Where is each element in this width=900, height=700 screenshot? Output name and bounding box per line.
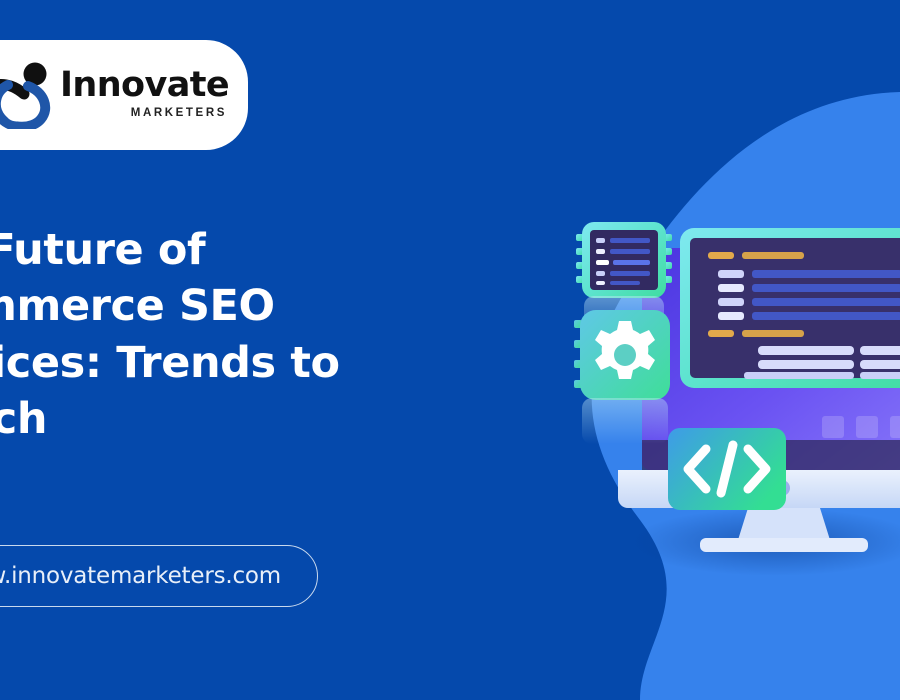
website-url-pill[interactable]: w.innovatemarketers.com: [0, 545, 318, 607]
page-title: e Future of ommerce SEO rvices: Trends t…: [0, 222, 503, 447]
code-tag-icon: [668, 428, 786, 510]
banner-canvas: Innovate MARKETERS e Future of ommerce S…: [0, 0, 900, 700]
gear-icon: [574, 310, 670, 400]
logo-card[interactable]: Innovate MARKETERS: [0, 40, 248, 150]
chip-list-icon: [576, 222, 672, 298]
logo-name: Innovate: [60, 68, 229, 103]
logo-tagline: MARKETERS: [131, 108, 227, 120]
coding-monitor-illustration: [560, 200, 900, 600]
person-swoosh-icon: [0, 61, 56, 129]
website-url-text: w.innovatemarketers.com: [0, 563, 281, 589]
